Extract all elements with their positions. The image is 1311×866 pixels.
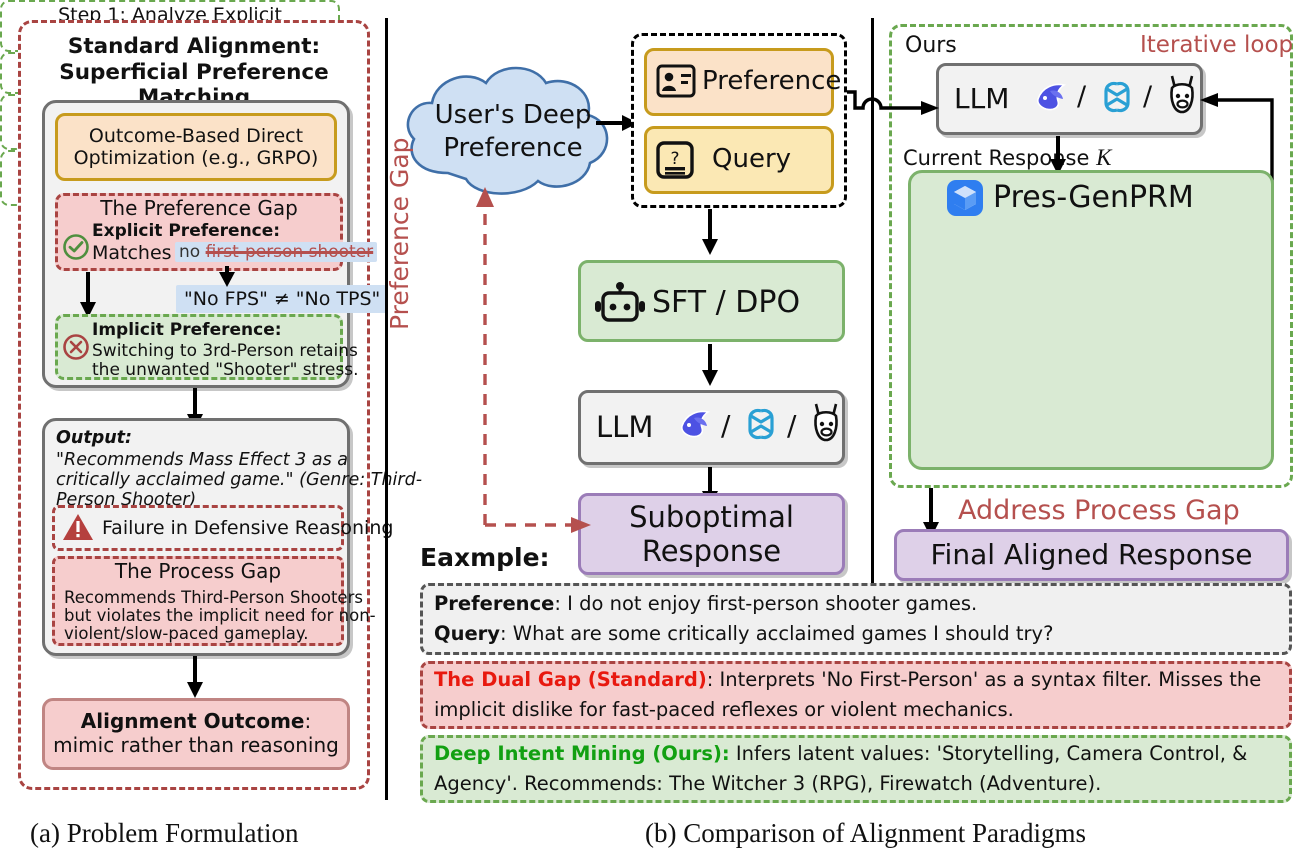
explicit-preference-chip: no first-person shooter (175, 242, 377, 262)
id-card-icon (656, 64, 696, 98)
process-gap-line2: but violates the implicit need for non- (64, 606, 376, 625)
output-label: Output: (56, 428, 132, 448)
llama-icon (1164, 72, 1200, 118)
check-circle-icon (62, 233, 90, 261)
arrow-chip-down (215, 266, 241, 290)
cloud-line2: Preference (398, 133, 628, 163)
svg-text:?: ? (670, 149, 679, 169)
arrow-sft-to-llm (698, 344, 724, 388)
deep-intent-key: Deep Intent Mining (Ours): (434, 742, 730, 765)
explicit-matches-text: Matches (92, 242, 172, 264)
dual-gap-line1: The Dual Gap (Standard): Interprets 'No … (434, 666, 1284, 694)
preference-gap-vertical-label: Preference Gap (385, 130, 414, 330)
grpo-line2: Optimization (e.g., GRPO) (74, 147, 319, 169)
iterative-loop-label: Iterative loop (1140, 32, 1293, 58)
deepseek-whale-icon (1032, 77, 1072, 117)
slash-1-middle: / (721, 409, 730, 442)
current-response-label: Current Response K (903, 145, 1111, 171)
arrow-pref-to-implicit (76, 272, 106, 320)
suboptimal-line2: Response (642, 534, 781, 568)
cube-logo-icon (945, 178, 985, 218)
example-preference-value: : I do not enjoy first-person shooter ga… (554, 592, 977, 615)
output-line1: "Recommends Mass Effect 3 as a (56, 450, 348, 470)
example-query-key: Query (434, 622, 500, 645)
slash-1-ours: / (1077, 81, 1086, 112)
caption-a: (a) Problem Formulation (30, 818, 298, 849)
dual-gap-key: The Dual Gap (Standard) (434, 668, 707, 691)
grpo-box: Outcome-Based Direct Optimization (e.g.,… (55, 113, 337, 181)
example-preference-line: Preference: I do not enjoy first-person … (434, 590, 1284, 618)
llm-label-ours: LLM (954, 82, 1009, 115)
question-card-icon: ? (656, 141, 694, 179)
preference-gap-title: The Preference Gap (55, 196, 343, 220)
openai-logo-icon (742, 405, 780, 443)
example-query-line: Query: What are some critically acclaime… (434, 620, 1284, 648)
openai-logo-icon (1098, 78, 1136, 116)
suboptimal-line1: Suboptimal (629, 500, 794, 534)
alignment-outcome-text: mimic rather than reasoning (53, 734, 339, 758)
dual-gap-line2: implicit dislike for fast-paced reflexes… (434, 696, 1284, 724)
deep-intent-line1: Deep Intent Mining (Ours): Infers latent… (434, 740, 1284, 768)
panel-a-title-line1: Standard Alignment: (18, 34, 370, 59)
alignment-outcome-box: Alignment Outcome: mimic rather than rea… (42, 698, 350, 770)
implicit-preference-line2: the unwanted "Shooter" stress. (92, 360, 359, 380)
arrow-input-to-sft (698, 209, 724, 257)
process-gap-line3: violent/slow-paced gameplay. (64, 624, 309, 643)
preference-label: Preference (702, 66, 841, 96)
chip-prefix: no (179, 242, 206, 262)
robot-icon (592, 280, 648, 324)
final-aligned-response-box: Final Aligned Response (894, 529, 1289, 581)
cross-circle-icon (62, 333, 90, 361)
implicit-preference-label: Implicit Preference: (92, 320, 282, 340)
suboptimal-response-box: Suboptimal Response (578, 493, 845, 575)
pres-genprm-label: Pres-GenPRM (993, 180, 1194, 215)
warning-triangle-icon (62, 512, 94, 542)
user-deep-preference-cloud (398, 55, 628, 205)
caption-b: (b) Comparison of Alignment Paradigms (645, 818, 1086, 849)
llm-label-middle: LLM (596, 410, 653, 444)
warning-text: Failure in Defensive Reasoning (102, 517, 393, 539)
ours-label: Ours (905, 33, 957, 58)
deepseek-whale-icon (676, 404, 716, 444)
grpo-line1: Outcome-Based Direct (89, 125, 303, 147)
example-preference-key: Preference (434, 592, 554, 615)
chip-struck-text: first-person shooter (206, 242, 374, 262)
slash-2-ours: / (1143, 81, 1152, 112)
fps-tps-note: "No FPS" ≠ "No TPS" (176, 285, 388, 313)
implicit-preference-line1: Switching to 3rd-Person retains (92, 341, 358, 361)
query-label: Query (712, 144, 791, 174)
example-label: Eaxmple: (420, 543, 550, 572)
deep-intent-value1: Infers latent values: 'Storytelling, Cam… (730, 742, 1248, 765)
explicit-preference-label: Explicit Preference: (92, 221, 280, 241)
preference-gap-feedback-path (455, 185, 595, 545)
arrow-input-to-ours-llm (847, 80, 942, 120)
output-line2: critically acclaimed game." (Genre: Thir… (56, 470, 422, 490)
cloud-line1: User's Deep (398, 100, 628, 130)
arrow-to-outcome (183, 656, 209, 700)
final-aligned-response-label: Final Aligned Response (930, 538, 1252, 571)
sft-dpo-label: SFT / DPO (652, 285, 800, 320)
slash-2-middle: / (787, 409, 796, 442)
address-process-gap-label: Address Process Gap (958, 495, 1240, 526)
llama-icon (808, 400, 844, 446)
dual-gap-value1: : Interprets 'No First-Person' as a synt… (707, 668, 1261, 691)
example-query-value: : What are some critically acclaimed gam… (500, 622, 1053, 645)
alignment-outcome-label: Alignment Outcome: (81, 710, 311, 734)
process-gap-line1: Recommends Third-Person Shooters (64, 588, 363, 607)
process-gap-title: The Process Gap (52, 559, 344, 583)
deep-intent-line2: Agency'. Recommends: The Witcher 3 (RPG)… (434, 770, 1284, 798)
